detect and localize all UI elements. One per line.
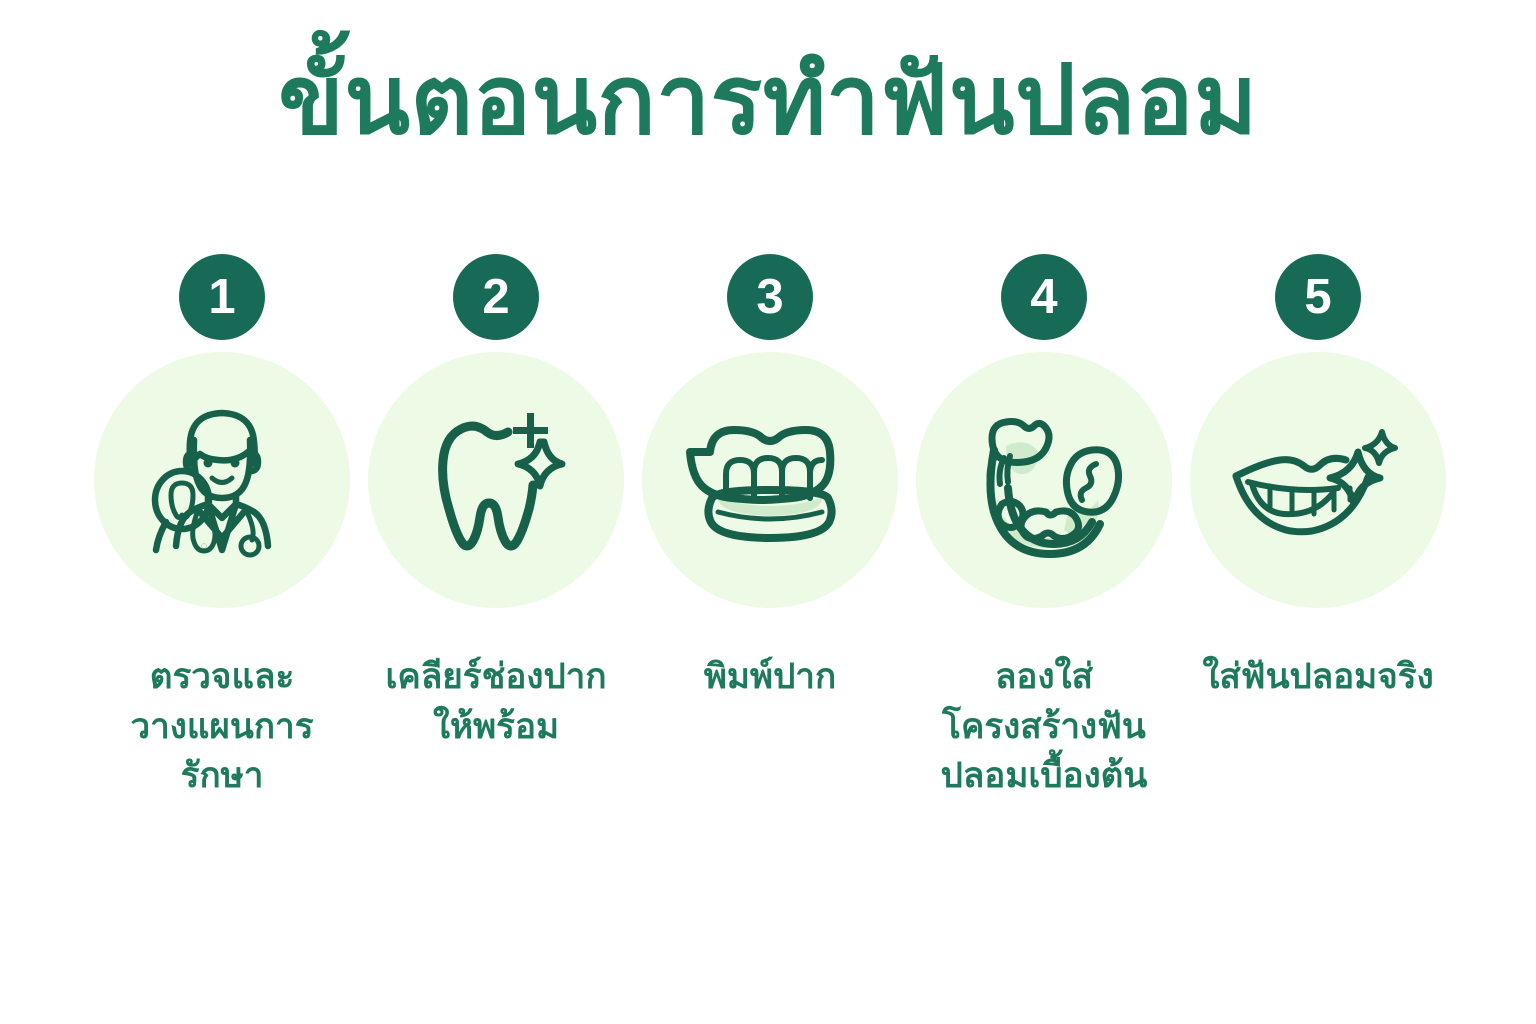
step-caption-3: พิมพ์ปาก [625, 652, 915, 702]
step-icon-disc-3 [642, 352, 898, 608]
step-icon-disc-2 [368, 352, 624, 608]
step-number-badge-1: 1 [179, 254, 265, 340]
step-item-2: 2 เคลียร์ช่องปาก ให้พร้อม [359, 254, 633, 751]
page-title: ขั้นตอนการทำฟันปลอม [0, 46, 1536, 156]
step-number-badge-3: 3 [727, 254, 813, 340]
step-number-badge-4: 4 [1001, 254, 1087, 340]
step-item-1: 1 [85, 254, 359, 801]
caption-line: เคลียร์ช่องปาก [351, 652, 641, 702]
infographic-root: ขั้นตอนการทำฟันปลอม 1 [0, 0, 1536, 1024]
step-item-5: 5 [1181, 254, 1455, 702]
step-icon-disc-4 [916, 352, 1172, 608]
steps-row: 1 [85, 254, 1451, 801]
caption-line: ตรวจและ [77, 652, 367, 702]
caption-line: ลองใส่ [899, 652, 1189, 702]
caption-line: ใส่ฟันปลอมจริง [1173, 652, 1463, 702]
step-item-4: 4 [907, 254, 1181, 801]
step-icon-disc-5 [1190, 352, 1446, 608]
step-caption-2: เคลียร์ช่องปาก ให้พร้อม [351, 652, 641, 751]
full-denture-icon [670, 380, 870, 580]
caption-line: พิมพ์ปาก [625, 652, 915, 702]
smiling-mouth-sparkle-icon [1218, 380, 1418, 580]
clean-tooth-sparkle-icon [396, 380, 596, 580]
step-item-3: 3 พิมพ์ปาก [633, 254, 907, 702]
caption-line: รักษา [77, 751, 367, 801]
caption-line: ให้พร้อม [351, 702, 641, 752]
dentist-with-mirror-icon [122, 380, 322, 580]
caption-line: วางแผนการ [77, 702, 367, 752]
step-number-badge-5: 5 [1275, 254, 1361, 340]
caption-line: โครงสร้างฟัน [899, 702, 1189, 752]
step-caption-1: ตรวจและ วางแผนการ รักษา [77, 652, 367, 801]
step-number-badge-2: 2 [453, 254, 539, 340]
step-icon-disc-1 [94, 352, 350, 608]
partial-denture-framework-icon [944, 380, 1144, 580]
step-caption-4: ลองใส่ โครงสร้างฟัน ปลอมเบื้องต้น [899, 652, 1189, 801]
step-caption-5: ใส่ฟันปลอมจริง [1173, 652, 1463, 702]
caption-line: ปลอมเบื้องต้น [899, 751, 1189, 801]
